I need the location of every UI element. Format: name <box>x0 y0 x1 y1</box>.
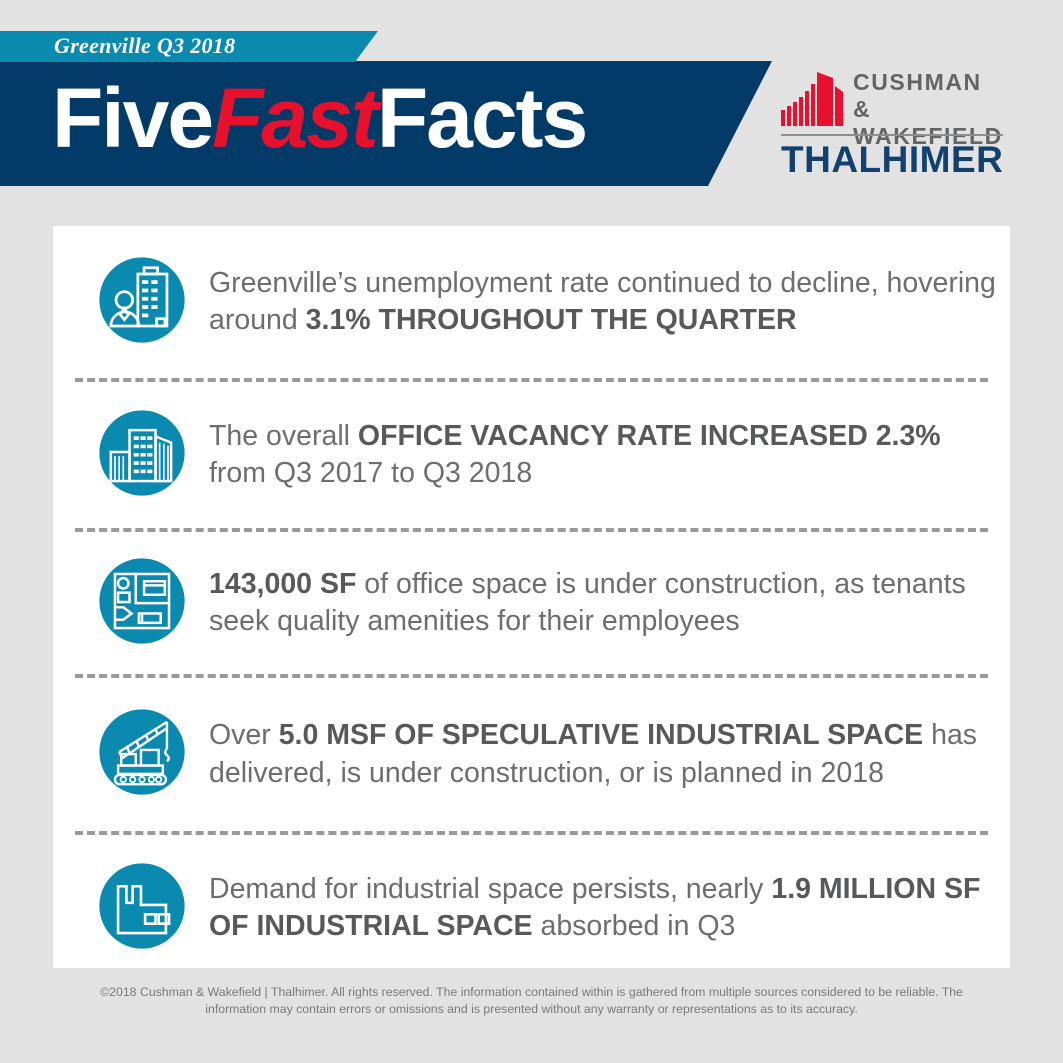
fact-plain: from Q3 2017 to Q3 2018 <box>209 457 532 489</box>
floor-plan-blueprint-icon <box>90 549 194 658</box>
fact-icon-5 <box>79 854 205 962</box>
factory-industrial-icon <box>90 854 194 963</box>
logo-company-name: CUSHMAN & WAKEFIELD <box>853 69 1003 150</box>
fact-icon-1 <box>79 248 205 356</box>
logo-divider <box>781 134 1003 136</box>
logo-top-row: CUSHMAN & WAKEFIELD <box>781 68 1003 130</box>
fact-icon-3 <box>79 549 205 657</box>
office-buildings-icon <box>90 401 194 510</box>
page-title-part-facts: Facts <box>377 71 586 165</box>
fact-text-1: Greenville’s unemployment rate continued… <box>205 265 1010 340</box>
footer-disclaimer: ©2018 Cushman & Wakefield | Thalhimer. A… <box>80 984 983 1018</box>
page-title: FiveFastFacts <box>52 76 586 160</box>
fact-plain: The overall <box>209 420 358 452</box>
page-title-part-five: Five <box>52 71 212 165</box>
header-banner: Greenville Q3 2018 FiveFastFacts <box>0 0 1063 190</box>
fact-plain: absorbed in Q3 <box>533 910 736 942</box>
facts-card: Greenville’s unemployment rate continued… <box>53 226 1010 968</box>
logo-company-name-line1: CUSHMAN & <box>853 69 982 122</box>
list-item: The overall OFFICE VACANCY RATE INCREASE… <box>53 382 1010 528</box>
list-item: 143,000 SF of office space is under cons… <box>53 532 1010 674</box>
list-item: Greenville’s unemployment rate continued… <box>53 226 1010 378</box>
fact-icon-4 <box>79 701 205 809</box>
fact-emphasis: 5.0 MSF OF SPECULATIVE INDUSTRIAL SPACE <box>279 719 924 751</box>
fact-emphasis: 143,000 SF <box>209 568 356 600</box>
company-logo: CUSHMAN & WAKEFIELD THALHIMER <box>781 68 1003 180</box>
fact-emphasis: OFFICE VACANCY RATE INCREASED 2.3% <box>358 420 941 452</box>
fact-text-4: Over 5.0 MSF OF SPECULATIVE INDUSTRIAL S… <box>205 717 1010 792</box>
list-item: Over 5.0 MSF OF SPECULATIVE INDUSTRIAL S… <box>53 678 1010 831</box>
eyebrow-label: Greenville Q3 2018 <box>54 31 235 62</box>
logo-brand-thalhimer: THALHIMER <box>781 140 1003 180</box>
page-title-part-fast: Fast <box>212 71 377 165</box>
employment-person-building-icon <box>90 248 194 357</box>
cushman-wakefield-building-mark-icon <box>781 72 843 126</box>
list-item: Demand for industrial space persists, ne… <box>53 835 1010 981</box>
fact-icon-2 <box>79 401 205 509</box>
fact-text-2: The overall OFFICE VACANCY RATE INCREASE… <box>205 418 1010 493</box>
fact-text-5: Demand for industrial space persists, ne… <box>205 871 1010 946</box>
construction-crane-icon <box>90 700 194 809</box>
fact-plain: Over <box>209 719 279 751</box>
fact-plain: Demand for industrial space persists, ne… <box>209 873 771 905</box>
fact-emphasis: 3.1% THROUGHOUT THE QUARTER <box>306 304 797 336</box>
fact-text-3: 143,000 SF of office space is under cons… <box>205 566 1010 641</box>
